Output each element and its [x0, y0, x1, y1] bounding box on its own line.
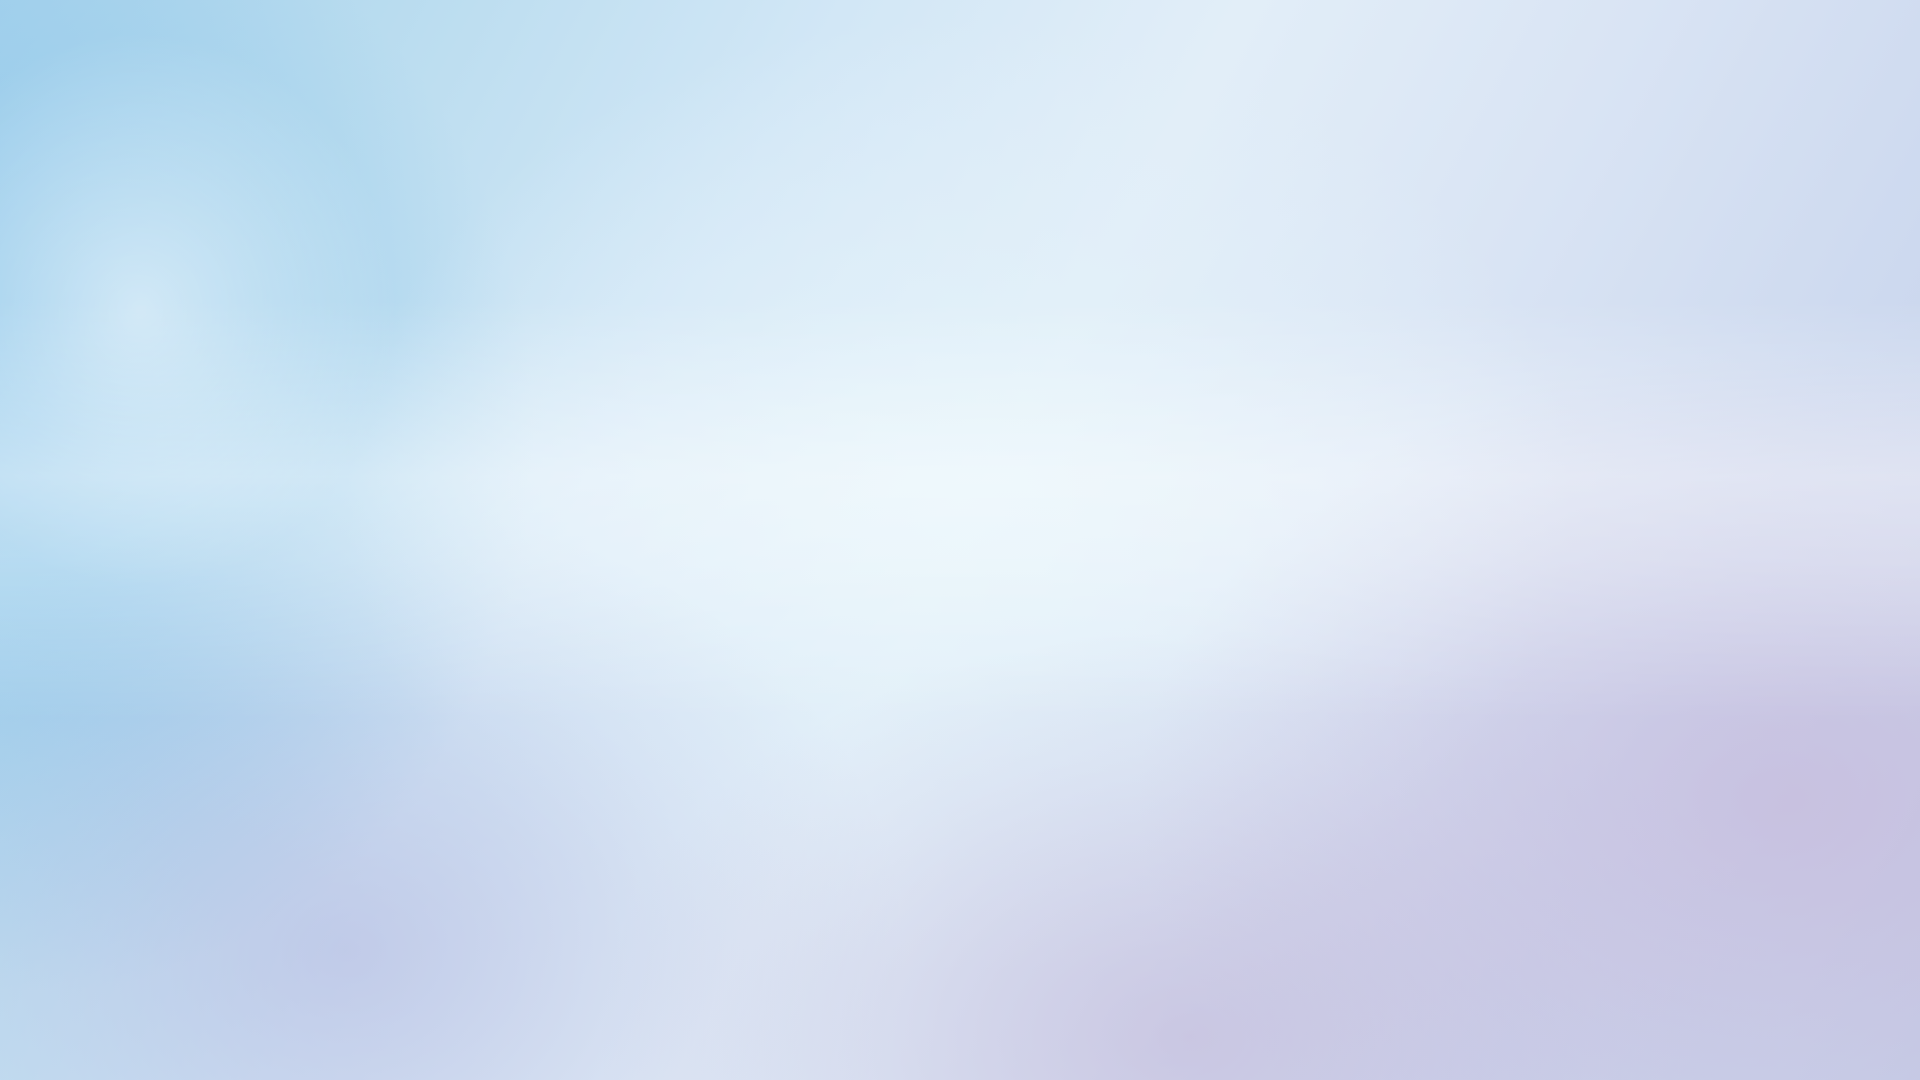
- background-sheen: [0, 300, 1920, 720]
- slide-canvas: [0, 0, 1920, 1080]
- process-chevron-band: [0, 370, 1920, 478]
- stage-top-labels: [0, 236, 1920, 346]
